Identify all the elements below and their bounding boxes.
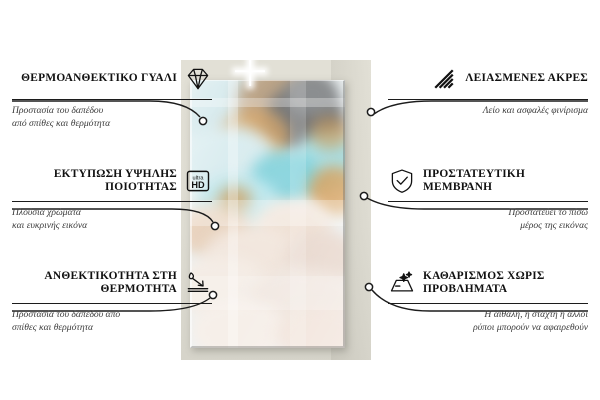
feature-desc-line-2: και ευκρινής εικόνα: [12, 220, 212, 233]
feature-easy-cleaning[interactable]: ΚΑΘΑΡΙΣΜΟΣ ΧΩΡΙΣ ΠΡΟΒΛΗΜΑΤΑ Η αιθάλη, η …: [388, 266, 588, 334]
infographic-stage: ΘΕΡΜΟΑΝΘΕΚΤΙΚΟ ΓΥΑΛΙ Προστασία του δαπέδ…: [0, 0, 600, 400]
feature-desc-line-2: ρύποι μπορούν να αφαιρεθούν: [388, 322, 588, 335]
feature-description: Πλούσια χρώματα και ευκρινής εικόνα: [12, 207, 212, 232]
feature-heat-resistance[interactable]: ΑΝΘΕΚΤΙΚΟΤΗΤΑ ΣΤΗ ΘΕΡΜΟΤΗΤΑ Προστασία το…: [12, 266, 212, 334]
ultra-hd-icon: ultra HD: [184, 167, 212, 195]
feature-description: Προστατεύει το πίσω μέρος της εικόνας: [388, 207, 588, 232]
feature-description: Προστασία του δαπέδου από σπίθες και θερ…: [12, 105, 212, 130]
feature-head: ΛΕΙΑΣΜΕΝΕΣ ΑΚΡΕΣ: [388, 62, 588, 96]
feature-description: Λείο και ασφαλές φινίρισμα: [388, 105, 588, 118]
feature-rule: [12, 201, 212, 202]
feature-rule: [388, 303, 588, 304]
feature-high-quality-print[interactable]: ΕΚΤΥΠΩΣΗ ΥΨΗΛΗΣ ΠΟΙΟΤΗΤΑΣ ultra HD Πλούσ…: [12, 164, 212, 232]
feature-rule: [388, 99, 588, 100]
feature-head: ΚΑΘΑΡΙΣΜΟΣ ΧΩΡΙΣ ΠΡΟΒΛΗΜΑΤΑ: [388, 266, 588, 300]
feature-title: ΚΑΘΑΡΙΣΜΟΣ ΧΩΡΙΣ ΠΡΟΒΛΗΜΑΤΑ: [423, 270, 588, 297]
feature-rule: [12, 99, 212, 100]
feature-title: ΛΕΙΑΣΜΕΝΕΣ ΑΚΡΕΣ: [465, 72, 588, 85]
feature-title: ΘΕΡΜΟΑΝΘΕΚΤΙΚΟ ΓΥΑΛΙ: [21, 72, 177, 85]
diamond-icon: [184, 65, 212, 93]
feature-desc-line-1: Προστατεύει το πίσω: [388, 207, 588, 220]
feature-heat-resistant-glass[interactable]: ΘΕΡΜΟΑΝΘΕΚΤΙΚΟ ΓΥΑΛΙ Προστασία του δαπέδ…: [12, 62, 212, 130]
feature-title: ΑΝΘΕΚΤΙΚΟΤΗΤΑ ΣΤΗ ΘΕΡΜΟΤΗΤΑ: [12, 270, 177, 297]
feature-head: ΘΕΡΜΟΑΝΘΕΚΤΙΚΟ ΓΥΑΛΙ: [12, 62, 212, 96]
feature-description: Η αιθάλη, η στάχτη ή άλλοι ρύποι μπορούν…: [388, 309, 588, 334]
feature-smoothed-edges[interactable]: ΛΕΙΑΣΜΕΝΕΣ ΑΚΡΕΣ Λείο και ασφαλές φινίρι…: [388, 62, 588, 118]
feature-head: ΕΚΤΥΠΩΣΗ ΥΨΗΛΗΣ ΠΟΙΟΤΗΤΑΣ ultra HD: [12, 164, 212, 198]
glass-panel-artwork: [190, 80, 345, 348]
shield-check-icon: [388, 167, 416, 195]
flame-deflect-icon: [184, 269, 212, 297]
feature-desc-line-2: μέρος της εικόνας: [388, 220, 588, 233]
feature-description: Προστασία του δαπέδου από σπίθες και θερ…: [12, 309, 212, 334]
feature-head: ΑΝΘΕΚΤΙΚΟΤΗΤΑ ΣΤΗ ΘΕΡΜΟΤΗΤΑ: [12, 266, 212, 300]
glass-edge: [190, 80, 345, 348]
feature-desc-line-2: από σπίθες και θερμότητα: [12, 118, 212, 131]
feature-desc-line-1: Προστασία του δαπέδου: [12, 105, 212, 118]
feature-desc-line-1: Προστασία του δαπέδου από: [12, 309, 212, 322]
feature-head: ΠΡΟΣΤΑΤΕΥΤΙΚΗ ΜΕΜΒΡΑΝΗ: [388, 164, 588, 198]
feature-protective-membrane[interactable]: ΠΡΟΣΤΑΤΕΥΤΙΚΗ ΜΕΜΒΡΑΝΗ Προστατεύει το πί…: [388, 164, 588, 232]
diagonal-stripes-icon: [430, 65, 458, 93]
feature-title: ΠΡΟΣΤΑΤΕΥΤΙΚΗ ΜΕΜΒΡΑΝΗ: [423, 168, 588, 195]
feature-desc-line-2: σπίθες και θερμότητα: [12, 322, 212, 335]
ultra-hd-icon-bottom: HD: [191, 180, 205, 190]
feature-rule: [12, 303, 212, 304]
feature-desc-line-1: Η αιθάλη, η στάχτη ή άλλοι: [388, 309, 588, 322]
feature-title: ΕΚΤΥΠΩΣΗ ΥΨΗΛΗΣ ΠΟΙΟΤΗΤΑΣ: [12, 168, 177, 195]
sponge-sparkle-icon: [388, 269, 416, 297]
feature-rule: [388, 201, 588, 202]
feature-desc-line-1: Λείο και ασφαλές φινίρισμα: [388, 105, 588, 118]
feature-desc-line-1: Πλούσια χρώματα: [12, 207, 212, 220]
